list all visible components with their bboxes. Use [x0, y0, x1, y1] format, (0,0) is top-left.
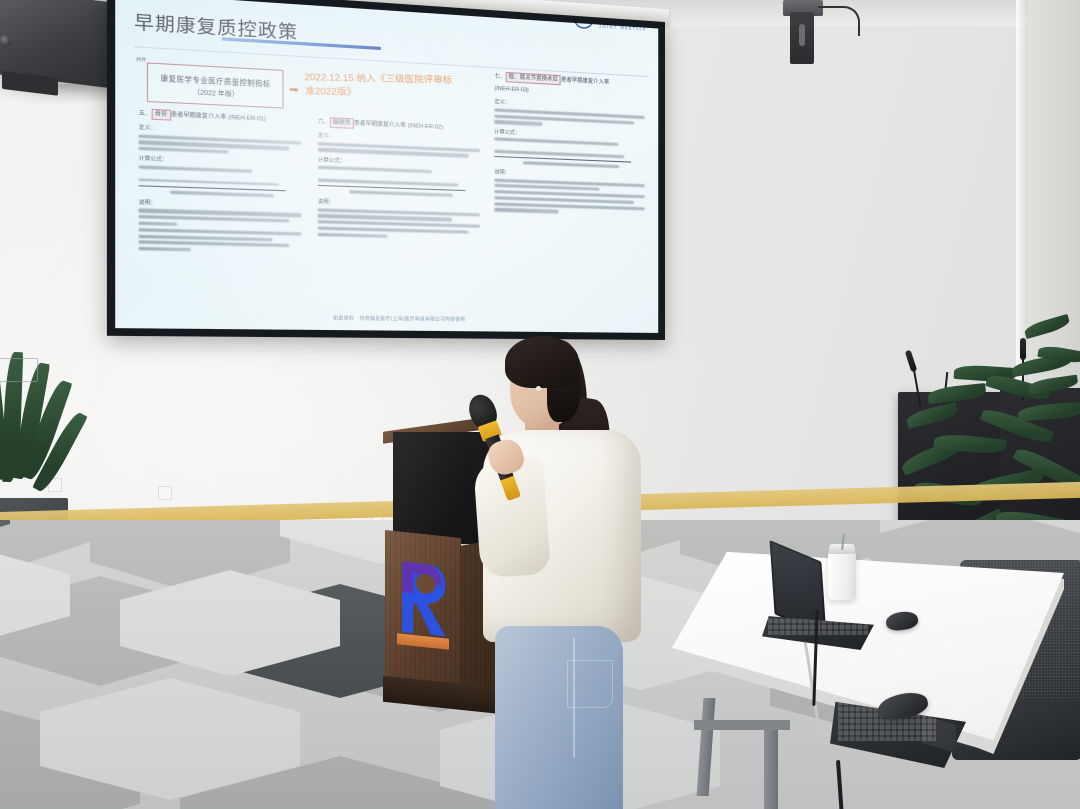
- body-text-line: [139, 165, 253, 173]
- mount-cable: [818, 6, 860, 36]
- body-text-line: [318, 179, 458, 187]
- tumbler-cup: [828, 552, 856, 600]
- slide-content: 伽互医疗 JOINT MedTech 早期康复质控政策 附件 康复医学专业医疗质…: [115, 0, 658, 333]
- indicator-2-rest: 患者早期康复介入率: [354, 120, 406, 129]
- laptop-trackpad: [922, 715, 956, 753]
- screen-surface: 伽互医疗 JOINT MedTech 早期康复质控政策 附件 康复医学专业医疗质…: [115, 0, 658, 333]
- wall-outlet: [158, 486, 172, 500]
- attachment-label: 附件: [136, 56, 146, 63]
- formula-denominator: [349, 190, 458, 197]
- body-text-line: [139, 147, 229, 154]
- indicator-3-formula: [494, 145, 652, 169]
- indicator-2-code: (INEH-ER-02): [408, 123, 443, 131]
- plant-leaf: [1037, 344, 1080, 365]
- body-text-line: [318, 233, 387, 238]
- laptop: [756, 554, 886, 658]
- indicator-1-rest: 患者早期康复介入率: [171, 112, 227, 121]
- plant-support-frame: [0, 358, 38, 382]
- conference-room-photo: 伽互医疗 JOINT MedTech 早期康复质控政策 附件 康复医学专业医疗质…: [0, 0, 1080, 809]
- body-text-line: [139, 178, 279, 186]
- indicator-column-3: 七、髋、膝关节置换术后患者早期康复介入率 (INEH-ER-03) 定义： 计算…: [494, 71, 652, 219]
- body-text-line: [170, 190, 274, 197]
- formula-numerator: [139, 178, 286, 191]
- screen-frame: 伽互医疗 JOINT MedTech 早期康复质控政策 附件 康复医学专业医疗质…: [107, 0, 665, 340]
- indicator-1-code: (INEH-ER-01): [228, 115, 266, 123]
- body-text-line: [139, 234, 273, 241]
- desk-leg: [764, 726, 778, 809]
- slide-footer: 机密资料 · 仅供伽互医疗(上海)医疗科技有限公司内部使用: [115, 313, 658, 325]
- formula-denominator: [524, 161, 625, 168]
- indicator-1-highlight: 骨折: [151, 109, 171, 121]
- indicator-2-highlight: 脑损伤: [330, 117, 354, 129]
- body-text-line: [139, 222, 177, 227]
- formula-numerator: [318, 179, 465, 192]
- body-text-line: [494, 208, 558, 213]
- body-text-line: [494, 120, 542, 126]
- hair-front: [505, 336, 579, 388]
- formula-denominator: [170, 190, 279, 197]
- presenter: [455, 330, 665, 809]
- indicator-column-2: 六、脑损伤患者早期康复介入率 (INEH-ER-02) 定义： 计算公式：: [318, 117, 488, 243]
- arrow-right-icon: ➡: [289, 85, 298, 96]
- indicator-column-1: 五、骨折患者早期康复介入率 (INEH-ER-01) 定义： 计算公式：: [139, 108, 309, 257]
- plant-leaf: [905, 402, 959, 429]
- projector-lens-icon: [0, 35, 11, 47]
- plant-leaf: [1027, 375, 1078, 395]
- indicator-2-formula: [318, 174, 488, 198]
- standing-desk: [672, 548, 1080, 809]
- mount-plate: [790, 12, 814, 64]
- jeans: [495, 626, 623, 809]
- lectern-r-logo-icon: [395, 555, 449, 639]
- plant-leaf: [1023, 314, 1071, 339]
- body-text-line: [318, 166, 432, 174]
- indicator-3-number: 七、: [494, 73, 505, 80]
- source-doc-line1: 康复医学专业医疗质量控制指标: [161, 71, 271, 88]
- source-doc-line2: （2022 年版）: [193, 86, 239, 98]
- body-text-line: [139, 247, 191, 252]
- desk-crossbar: [694, 720, 790, 730]
- formula-numerator: [494, 150, 630, 163]
- indicator-3-highlight: 髋、膝关节置换术后: [506, 72, 561, 85]
- plant-leaf: [927, 383, 986, 404]
- body-text-line: [349, 190, 453, 197]
- slide-title: 早期康复质控政策: [134, 7, 643, 65]
- indicator-3-rest: 患者早期康复介入率: [561, 77, 609, 86]
- potted-plant: [1024, 300, 1080, 420]
- desk-leg: [697, 698, 716, 796]
- indicator-1-number: 五、: [139, 110, 152, 117]
- source-document-box: 康复医学专业医疗质量控制指标 （2022 年版）: [147, 62, 284, 108]
- jeans-back-pocket: [567, 660, 613, 708]
- inclusion-note: 2022.12.15 纳入《三级医院评审标准2022版》: [304, 71, 455, 101]
- projection-screen: 伽互医疗 JOINT MedTech 早期康复质控政策 附件 康复医学专业医疗质…: [107, 0, 665, 340]
- indicator-1-formula: [139, 173, 309, 198]
- earring-icon: [536, 386, 541, 391]
- logo-text-en: JOINT MedTech: [599, 24, 647, 32]
- body-text-line: [524, 161, 620, 168]
- indicator-2-number: 六、: [318, 119, 330, 126]
- mic-base-cap: [500, 476, 521, 501]
- body-text-line: [494, 150, 624, 158]
